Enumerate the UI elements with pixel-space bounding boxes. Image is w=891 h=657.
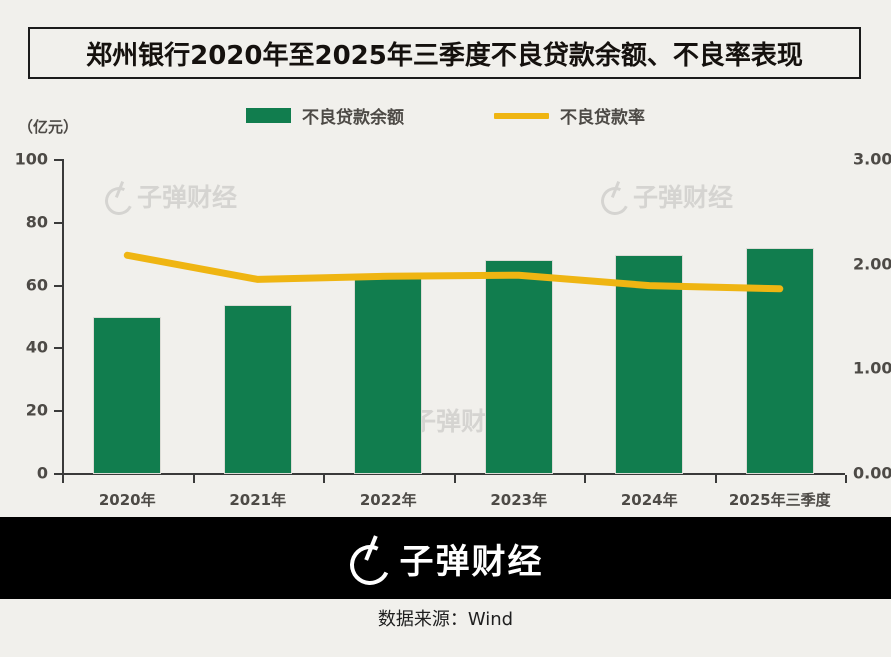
y-axis-tick xyxy=(54,473,62,475)
x-axis-label-2025年三季度: 2025年三季度 xyxy=(729,489,831,510)
y-axis-tick xyxy=(54,410,62,412)
x-axis-tick xyxy=(323,475,325,483)
legend-label-line: 不良贷款率 xyxy=(560,103,645,128)
x-axis-tick xyxy=(715,475,717,483)
plot-area: 100806040200 3.00%2.00%1.00%0.00% 2020年2… xyxy=(62,159,751,473)
chart-title-box: 郑州银行2020年至2025年三季度不良贷款余额、不良率表现 xyxy=(28,27,861,79)
y-axis-tick-label: 100 xyxy=(15,150,48,169)
data-source-note: 数据来源：Wind xyxy=(0,605,891,631)
x-axis-tick xyxy=(584,475,586,483)
y-axis-tick-label: 60 xyxy=(26,275,48,294)
legend-label-bar: 不良贷款余额 xyxy=(302,103,404,128)
legend-swatch-bar-icon xyxy=(246,108,291,123)
y-axis-tick-label: 20 xyxy=(26,401,48,420)
x-axis-label-2020年: 2020年 xyxy=(99,489,156,510)
x-axis-tick xyxy=(62,475,64,483)
x-axis-tick xyxy=(193,475,195,483)
x-axis-label-2024年: 2024年 xyxy=(621,489,678,510)
y-axis-tick xyxy=(54,222,62,224)
y-axis-tick xyxy=(54,347,62,349)
y2-axis-tick-label: 1.00% xyxy=(853,359,891,378)
x-axis-tick xyxy=(845,475,847,483)
legend-item-line: 不良贷款率 xyxy=(494,103,645,128)
x-axis-label-2022年: 2022年 xyxy=(360,489,417,510)
x-axis-label-2021年: 2021年 xyxy=(229,489,286,510)
chart-legend: 不良贷款余额 不良贷款率 xyxy=(0,103,891,128)
y-axis-tick xyxy=(54,159,62,161)
chart-page: 郑州银行2020年至2025年三季度不良贷款余额、不良率表现 不良贷款余额 不良… xyxy=(0,0,891,657)
brand-name: 子弹财经 xyxy=(400,534,544,583)
y2-axis-tick-label: 0.00% xyxy=(853,464,891,483)
line-path xyxy=(127,255,780,288)
footer-logo-bar: 子弹财经 xyxy=(0,517,891,599)
line-series xyxy=(62,159,845,473)
x-axis-label-2023年: 2023年 xyxy=(490,489,547,510)
brand-logo-icon xyxy=(348,535,388,581)
y2-axis-tick-label: 3.00% xyxy=(853,150,891,169)
y-axis-tick-label: 0 xyxy=(37,464,48,483)
legend-item-bar: 不良贷款余额 xyxy=(246,103,404,128)
x-axis-tick xyxy=(454,475,456,483)
y-axis-tick-label: 40 xyxy=(26,338,48,357)
page-title: 郑州银行2020年至2025年三季度不良贷款余额、不良率表现 xyxy=(86,35,803,72)
y-axis-tick xyxy=(54,285,62,287)
y2-axis-tick-label: 2.00% xyxy=(853,254,891,273)
y-axis-unit-label: （亿元） xyxy=(18,116,78,137)
legend-swatch-line-icon xyxy=(494,113,549,119)
y-axis-tick-label: 80 xyxy=(26,212,48,231)
